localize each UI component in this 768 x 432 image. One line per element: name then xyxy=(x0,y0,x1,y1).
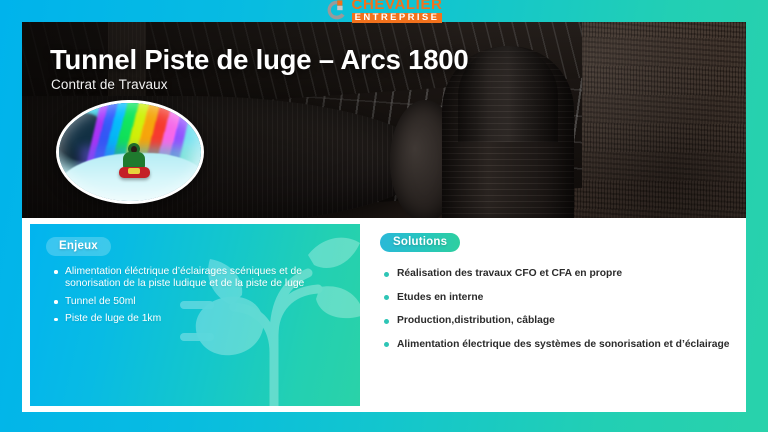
list-item: Production,distribution, câblage xyxy=(382,315,734,327)
list-item: Réalisation des travaux CFO et CFA en pr… xyxy=(382,268,734,280)
company-logo: CHEVALIER ENTREPRISE xyxy=(326,0,443,23)
brand-name-bottom: ENTREPRISE xyxy=(352,13,443,23)
brand-name-top: CHEVALIER xyxy=(352,0,443,12)
content-columns: Enjeux Alimentation éléctrique d’éclaira… xyxy=(22,218,746,412)
list-item: Etudes en interne xyxy=(382,292,734,304)
enjeux-badge: Enjeux xyxy=(46,236,111,256)
list-item: Piste de luge de 1km xyxy=(52,313,342,325)
slide-card: Tunnel Piste de luge – Arcs 1800 Contrat… xyxy=(22,22,746,412)
hero-section: Tunnel Piste de luge – Arcs 1800 Contrat… xyxy=(22,22,746,218)
inset-inner-glow xyxy=(59,103,201,201)
solutions-list: Réalisation des travaux CFO et CFA en pr… xyxy=(382,268,734,362)
list-item: Alimentation électrique des systèmes de … xyxy=(382,339,734,351)
luge-tunnel-inset-image xyxy=(56,100,204,204)
enjeux-list: Alimentation éléctrique d’éclairages scé… xyxy=(52,266,342,331)
page-title: Tunnel Piste de luge – Arcs 1800 xyxy=(50,44,468,76)
page-subtitle: Contrat de Travaux xyxy=(51,77,168,92)
solutions-panel: Solutions Réalisation des travaux CFO et… xyxy=(368,224,738,406)
solutions-badge: Solutions xyxy=(380,232,460,252)
circular-c-logo-icon xyxy=(326,0,348,21)
enjeux-panel: Enjeux Alimentation éléctrique d’éclaira… xyxy=(30,224,360,406)
brand-header: CHEVALIER ENTREPRISE xyxy=(0,0,768,22)
list-item: Alimentation éléctrique d’éclairages scé… xyxy=(52,266,342,291)
list-item: Tunnel de 50ml xyxy=(52,296,342,308)
